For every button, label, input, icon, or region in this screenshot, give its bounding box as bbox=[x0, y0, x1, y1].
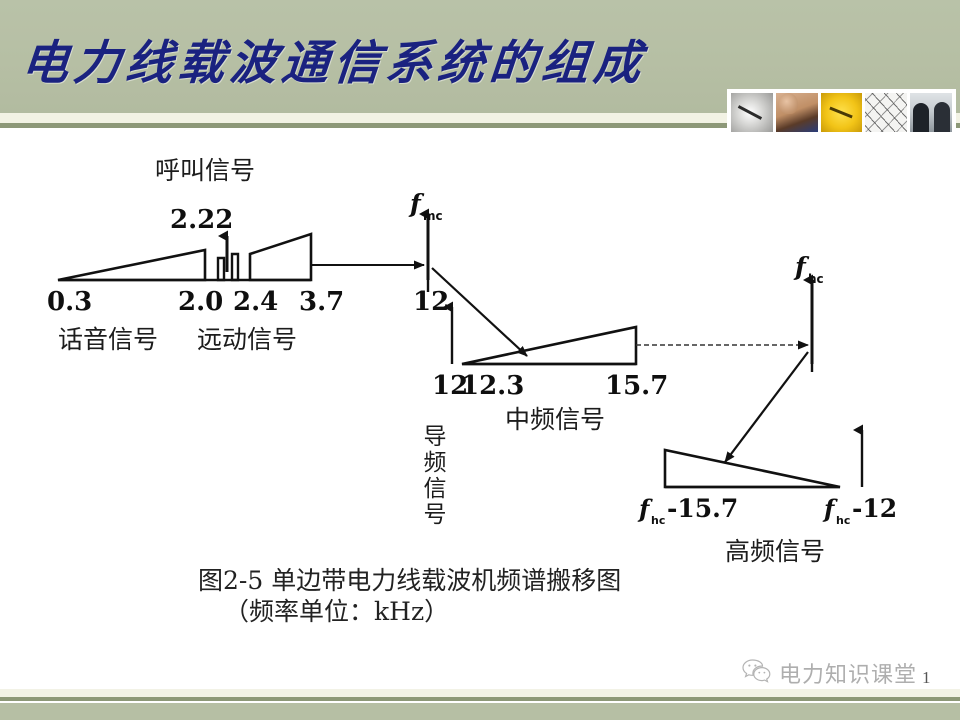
hf-signal-label: 高频信号 bbox=[725, 537, 825, 566]
call-signal-label: 呼叫信号 bbox=[155, 156, 255, 185]
baseband-spectrum bbox=[58, 234, 311, 280]
hf-tick-right-sub: hc bbox=[836, 514, 850, 527]
gauge-photo bbox=[731, 93, 773, 132]
business-people-photo bbox=[910, 93, 952, 132]
telecontrol-signal-shape bbox=[250, 234, 311, 280]
hf-signal-shape bbox=[665, 450, 840, 487]
slide: 电力线载波通信系统的组成 bbox=[0, 0, 960, 720]
footer-cream-stripe bbox=[0, 689, 960, 697]
net-grid-photo bbox=[865, 93, 907, 132]
yellow-clock-photo bbox=[821, 93, 863, 132]
call-spike-b bbox=[232, 254, 238, 280]
call-value-label: 2.22 bbox=[170, 205, 233, 235]
figure-caption-line1: 图2-5 单边带电力线载波机频谱搬移图 bbox=[198, 566, 758, 597]
figure-caption: 图2-5 单边带电力线载波机频谱搬移图 （频率单位：kHz） bbox=[198, 566, 758, 627]
tick-2-0: 2.0 bbox=[178, 287, 223, 317]
if-tick-end: 15.7 bbox=[605, 371, 668, 401]
tick-3-7: 3.7 bbox=[299, 287, 344, 317]
spectrum-shift-diagram: 呼叫信号 2.22 0.3 2.0 2.4 3.7 话音信号 远动信号 f mc… bbox=[0, 132, 960, 632]
hf-tick-left-sub: hc bbox=[651, 514, 665, 527]
hf-tick-right-rest: -12 bbox=[852, 494, 897, 523]
footer-band bbox=[0, 703, 960, 720]
if-spectrum bbox=[452, 307, 636, 364]
carrier-fmc-sub: mc bbox=[423, 209, 443, 223]
voice-signal-label: 话音信号 bbox=[58, 325, 158, 354]
mixer1-input-tick: 12 bbox=[413, 287, 449, 317]
carrier-fhc-label: f hc bbox=[793, 252, 824, 286]
mixer1 bbox=[428, 214, 527, 356]
watermark-text: 电力知识课堂 bbox=[779, 657, 917, 689]
if-signal-label: 中频信号 bbox=[505, 405, 605, 434]
mixer2 bbox=[725, 280, 812, 462]
voice-signal-shape bbox=[58, 250, 205, 280]
tick-2-4: 2.4 bbox=[233, 287, 278, 317]
pilot-signal-label: 导频信号 bbox=[419, 424, 447, 528]
page-title: 电力线载波通信系统的组成 bbox=[19, 24, 745, 93]
if-signal-shape bbox=[462, 327, 636, 364]
telecontrol-signal-label: 远动信号 bbox=[197, 325, 297, 354]
person-photo bbox=[776, 93, 818, 132]
hf-spectrum bbox=[665, 430, 862, 487]
page-number: 1 bbox=[922, 668, 931, 688]
watermark: 电力知识课堂 bbox=[742, 657, 917, 689]
carrier-fhc-sub: hc bbox=[808, 272, 824, 286]
if-tick-start: 12.3 bbox=[461, 371, 524, 401]
hf-tick-right: f hc -12 bbox=[822, 494, 897, 527]
wechat-icon bbox=[742, 658, 772, 689]
connector-mixer2-to-hf bbox=[725, 352, 808, 462]
tick-0-3: 0.3 bbox=[47, 287, 92, 317]
carrier-fmc-label: f mc bbox=[408, 189, 443, 223]
footer-rule bbox=[0, 697, 960, 701]
hf-tick-left: f hc -15.7 bbox=[637, 494, 738, 527]
hf-tick-left-rest: -15.7 bbox=[667, 494, 738, 523]
figure-caption-line2: （频率单位：kHz） bbox=[198, 597, 758, 628]
call-spike-a bbox=[218, 258, 224, 280]
thumbnail-strip bbox=[727, 89, 956, 136]
